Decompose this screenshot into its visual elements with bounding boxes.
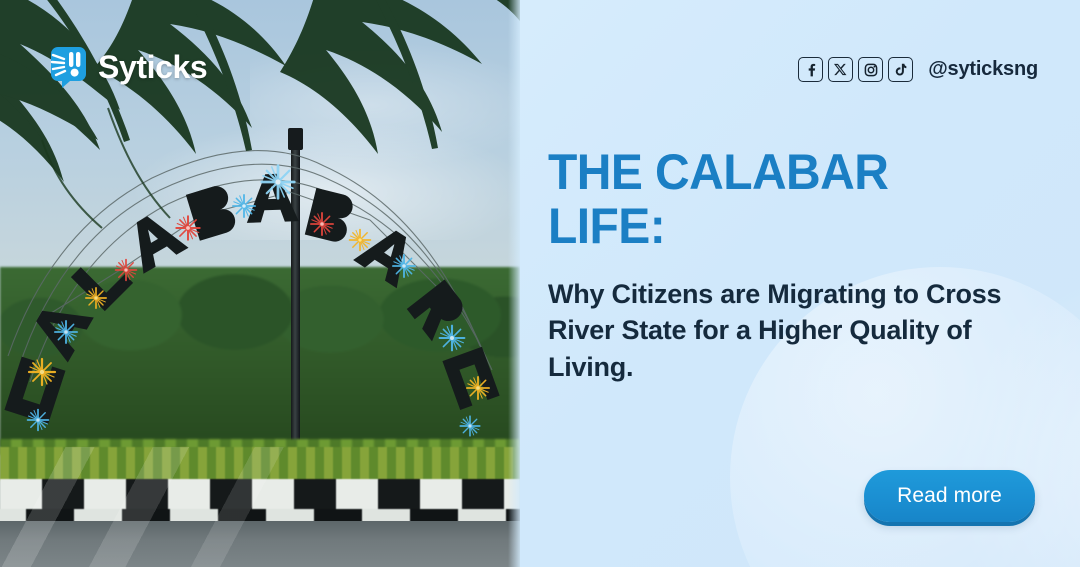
syticks-speech-bubble-exclamation-icon (48, 46, 87, 88)
tiktok-icon[interactable] (888, 57, 913, 82)
page-title: THE CALABAR LIFE: (548, 146, 999, 253)
panel-edge-fade (508, 0, 520, 567)
headline-line-2: LIFE: (548, 200, 999, 254)
brand-name: Syticks (98, 51, 207, 83)
social-icon-group (798, 57, 913, 82)
x-twitter-icon[interactable] (828, 57, 853, 82)
roadside-hedge (0, 447, 520, 481)
facebook-icon[interactable] (798, 57, 823, 82)
brand-logo[interactable]: Syticks (48, 46, 207, 88)
headline-line-1: THE CALABAR (548, 146, 999, 200)
palm-foliage-overlay (0, 0, 520, 290)
social-handle[interactable]: @syticksng (928, 58, 1038, 81)
read-more-button[interactable]: Read more (864, 470, 1035, 522)
road-surface (0, 521, 520, 567)
instagram-icon[interactable] (858, 57, 883, 82)
social-media-card: Syticks (0, 0, 1080, 567)
social-links: @syticksng (798, 57, 1038, 82)
subtitle: Why Citizens are Migrating to Cross Rive… (548, 276, 1018, 385)
